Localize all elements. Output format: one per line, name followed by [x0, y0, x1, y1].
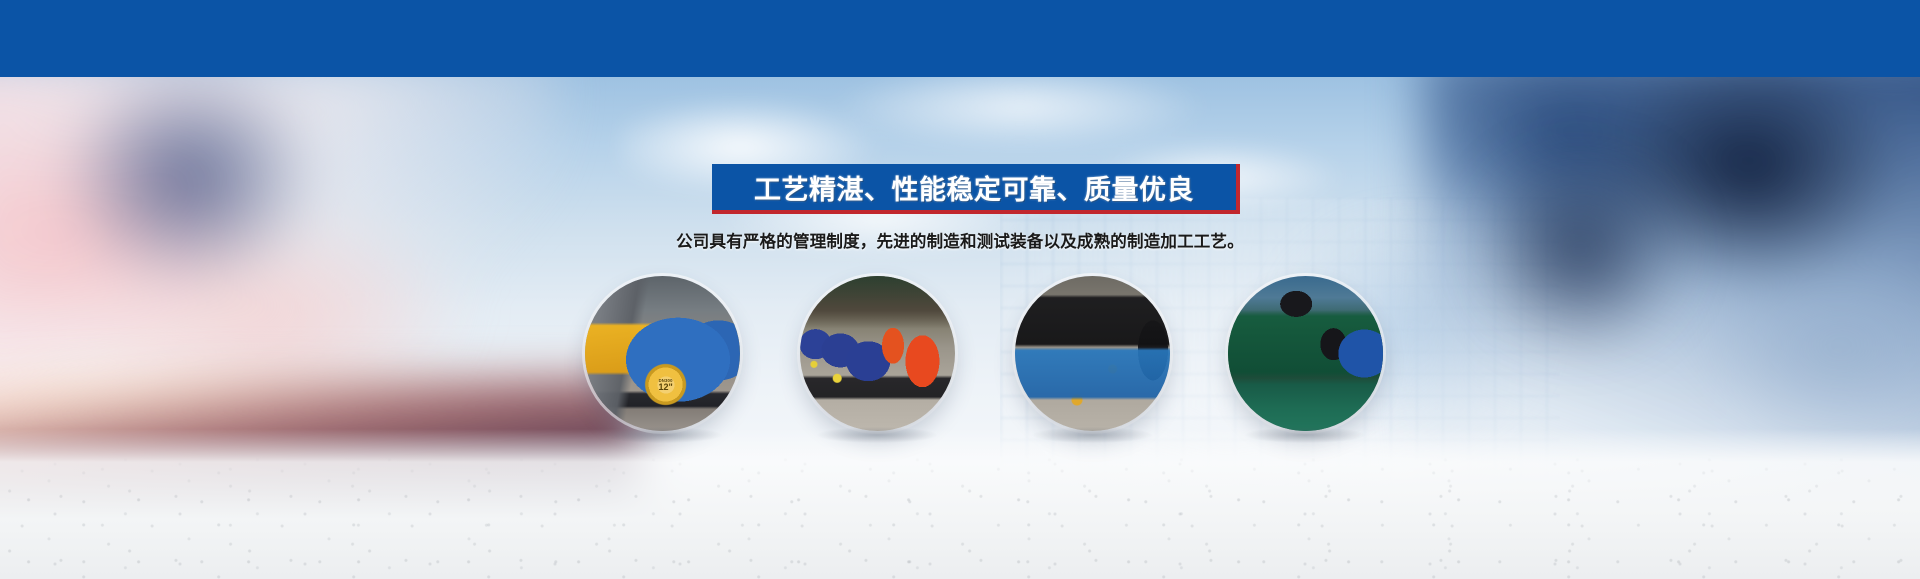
- product-photo-circle-4[interactable]: [1228, 276, 1383, 431]
- diesel-engine-pump-photo: [1228, 276, 1383, 431]
- product-photo-circle-1[interactable]: DN300 12": [585, 276, 740, 431]
- subtitle-text: 公司具有严格的管理制度，先进的制造和测试装备以及成熟的制造加工工艺。: [676, 228, 1244, 252]
- headline-plaque: 工艺精湛、性能稳定可靠、质量优良: [712, 164, 1240, 214]
- split-case-pump-photo: [585, 276, 740, 431]
- circle-shadow: [1245, 427, 1365, 443]
- product-photo-circle-3[interactable]: [1015, 276, 1170, 431]
- top-blue-bar: [0, 0, 1920, 77]
- flange-size-text: 12": [658, 383, 672, 393]
- circle-shadow: [817, 427, 937, 443]
- hero-banner: DN300 12" 工艺精湛、性能稳定可靠、质量优良 公司具有严格的管理制度，先…: [0, 0, 1920, 579]
- circle-shadow: [1032, 427, 1152, 443]
- headline-text: 工艺精湛、性能稳定可靠、质量优良: [754, 168, 1194, 207]
- slurry-pump-row-photo: [800, 276, 955, 431]
- flange-label: DN300 12": [649, 379, 683, 393]
- vertical-inline-pump-photo: [1015, 276, 1170, 431]
- product-photo-circle-2[interactable]: [800, 276, 955, 431]
- circle-shadow: [602, 427, 722, 443]
- subtitle-row: 公司具有严格的管理制度，先进的制造和测试装备以及成熟的制造加工工艺。: [0, 228, 1920, 252]
- product-photo-gallery: DN300 12": [0, 77, 1920, 579]
- background-scene: DN300 12": [0, 77, 1920, 579]
